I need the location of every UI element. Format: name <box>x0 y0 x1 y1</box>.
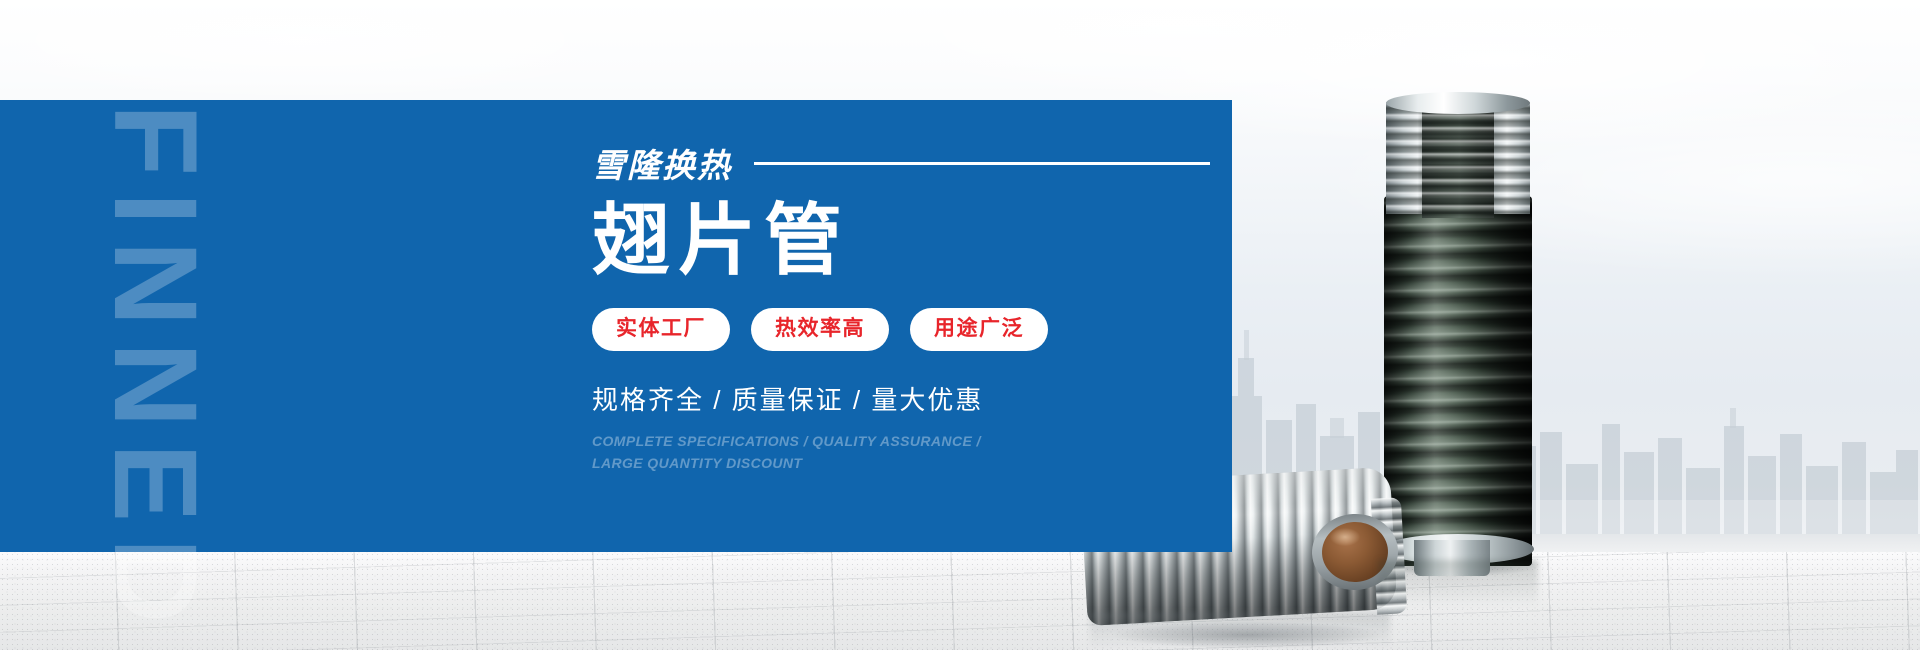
page-title: 翅片管 <box>592 200 1212 282</box>
subtitle-english: COMPLETE SPECIFICATIONS / QUALITY ASSURA… <box>592 431 992 474</box>
promo-banner: FINNED 雪隆换热 翅片管 实体工厂 热效率高 用途广泛 规格齐全 / 质量… <box>0 0 1920 650</box>
vertical-tube-crown <box>1376 92 1540 220</box>
finned-watermark-text: FINNED <box>96 104 214 650</box>
vertical-tube-reflection <box>1378 560 1538 606</box>
crown-fins <box>1386 102 1530 214</box>
feature-badge-factory[interactable]: 实体工厂 <box>592 308 730 351</box>
feature-badge-efficiency[interactable]: 热效率高 <box>751 308 889 351</box>
horizontal-tube-reflection <box>1090 612 1390 648</box>
brand-name: 雪隆换热 <box>592 139 732 187</box>
feature-badge-group: 实体工厂 热效率高 用途广泛 <box>592 308 1212 351</box>
brand-divider-line <box>754 162 1210 165</box>
subtitle-chinese: 规格齐全 / 质量保证 / 量大优惠 <box>592 380 1212 417</box>
brand-row: 雪隆换热 <box>592 140 1212 186</box>
crown-top-disc <box>1386 92 1530 114</box>
copper-core-highlight <box>1330 528 1360 546</box>
floor-texture <box>0 552 1920 650</box>
feature-badge-applications[interactable]: 用途广泛 <box>910 308 1048 351</box>
banner-content: 雪隆换热 翅片管 实体工厂 热效率高 用途广泛 规格齐全 / 质量保证 / 量大… <box>592 140 1212 475</box>
